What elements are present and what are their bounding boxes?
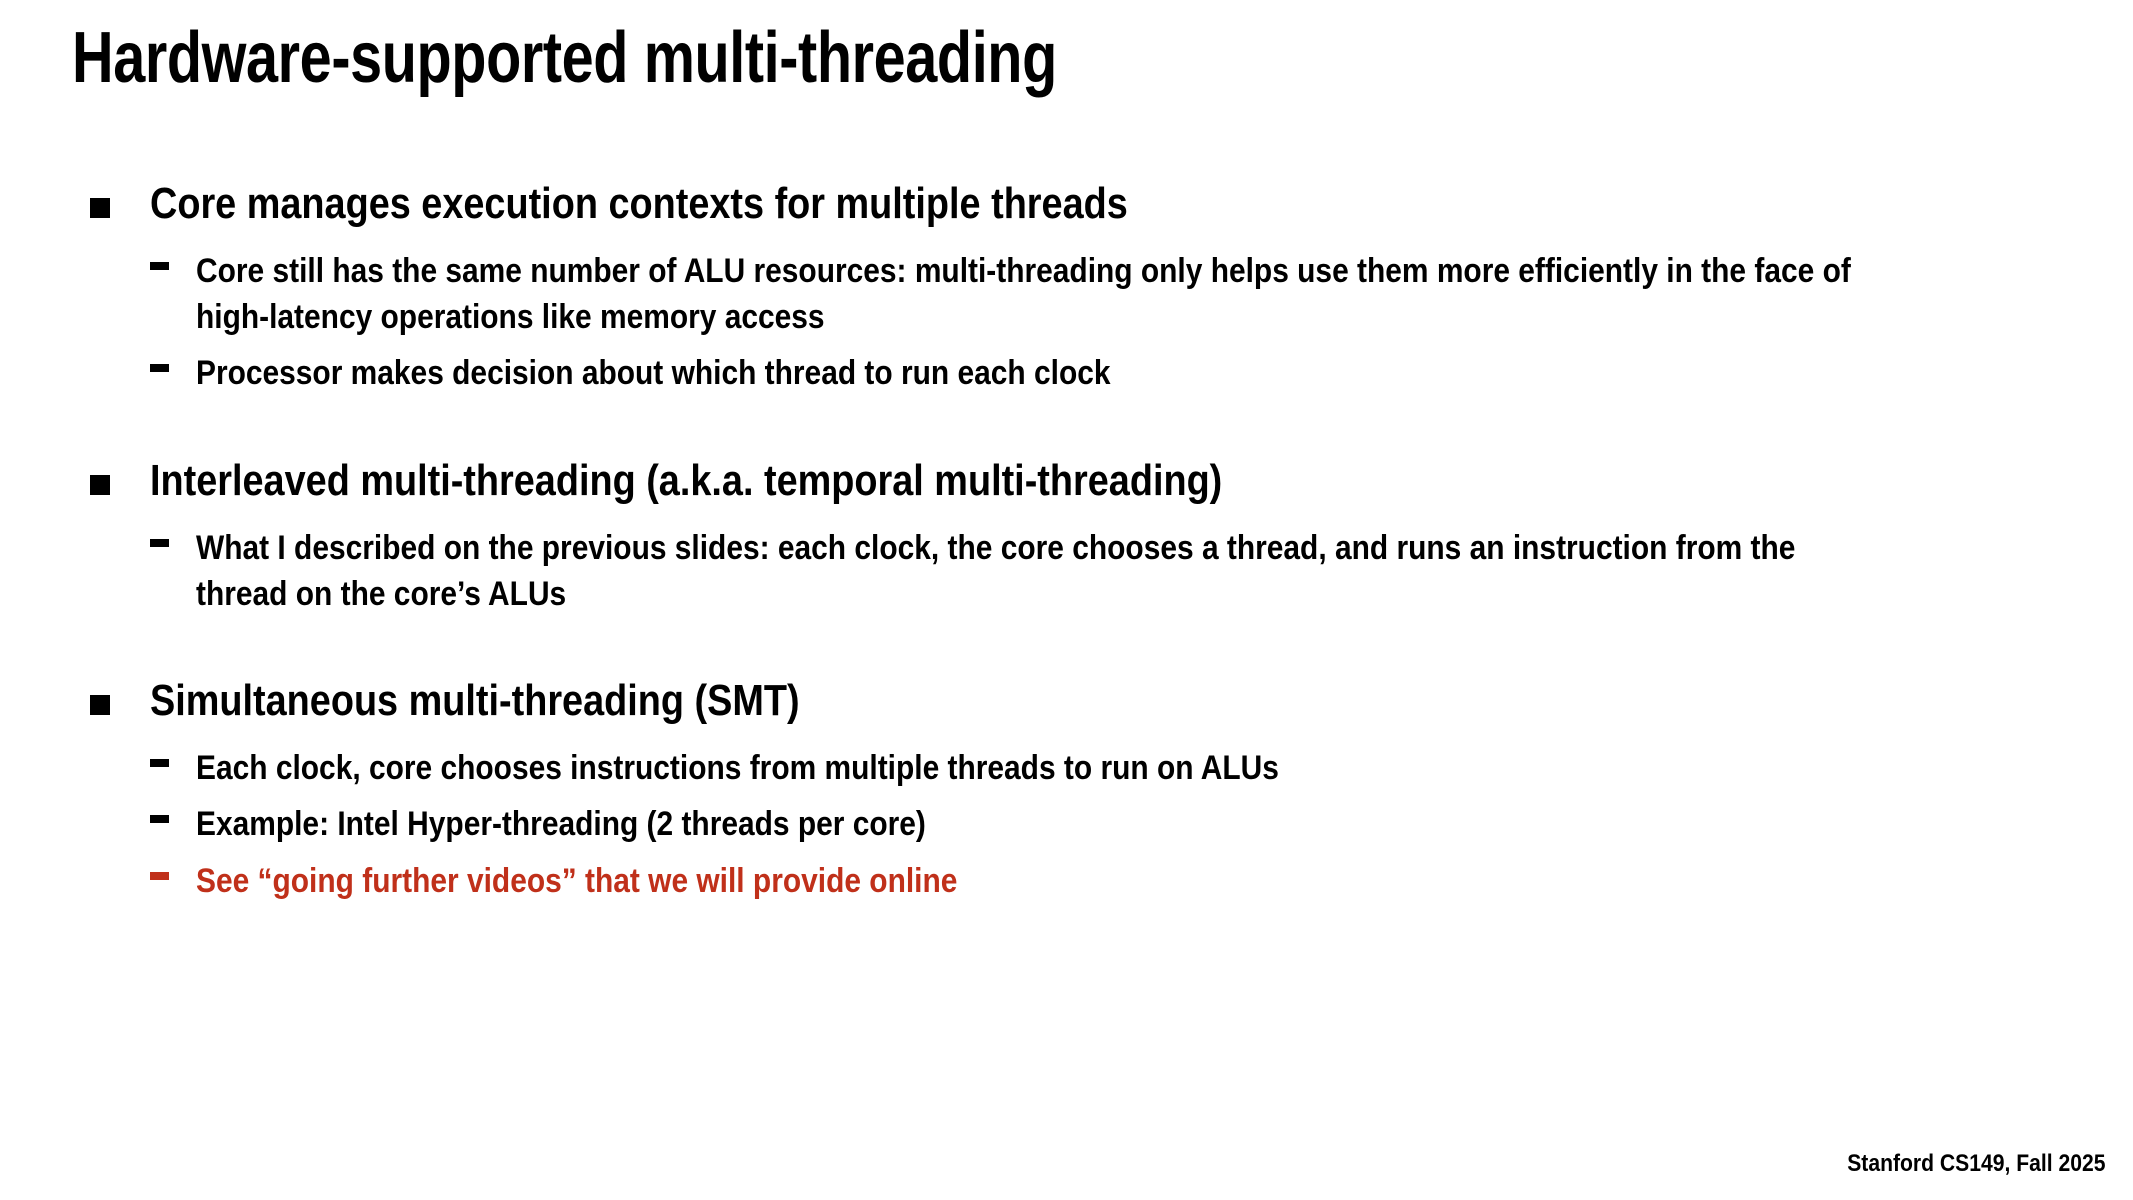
bullet-level2-highlighted: See “going further videos” that we will …: [0, 858, 2133, 904]
slide-footer: Stanford CS149, Fall 2025: [1847, 1150, 2105, 1178]
bullet-level2-label: Example: Intel Hyper-threading (2 thread…: [196, 801, 2088, 847]
bullet-level1: Core manages execution contexts for mult…: [0, 178, 2133, 238]
bullet-level2-label: See “going further videos” that we will …: [196, 858, 2088, 904]
bullet-level1-label: Core manages execution contexts for mult…: [150, 178, 1855, 230]
bullet-level1-label: Interleaved multi-threading (a.k.a. temp…: [150, 455, 1855, 507]
bullet-level2-label: Processor makes decision about which thr…: [196, 350, 2088, 396]
bullet-group: Core manages execution contexts for mult…: [0, 178, 2133, 397]
dash-bullet-icon: [150, 539, 169, 547]
square-bullet-icon: [90, 198, 110, 218]
bullet-level2: Example: Intel Hyper-threading (2 thread…: [0, 801, 2133, 847]
bullet-level2: What I described on the previous slides:…: [0, 525, 2133, 617]
bullet-group: Simultaneous multi-threading (SMT) Each …: [0, 675, 2133, 904]
bullet-group: Interleaved multi-threading (a.k.a. temp…: [0, 455, 2133, 617]
slide-body: Core manages execution contexts for mult…: [0, 178, 2133, 904]
dash-bullet-icon: [150, 364, 169, 372]
dash-bullet-icon: [150, 872, 169, 880]
slide-title: Hardware-supported multi-threading: [72, 22, 1057, 94]
dash-bullet-icon: [150, 815, 169, 823]
bullet-level2: Processor makes decision about which thr…: [0, 350, 2133, 396]
bullet-level2: Each clock, core chooses instructions fr…: [0, 745, 2133, 791]
square-bullet-icon: [90, 475, 110, 495]
dash-bullet-icon: [150, 759, 169, 767]
dash-bullet-icon: [150, 262, 169, 270]
bullet-level2-label: Each clock, core chooses instructions fr…: [196, 745, 2088, 791]
bullet-level2: Core still has the same number of ALU re…: [0, 248, 2133, 340]
bullet-level1: Simultaneous multi-threading (SMT): [0, 675, 2133, 735]
square-bullet-icon: [90, 695, 110, 715]
slide-canvas: Hardware-supported multi-threading Core …: [0, 0, 2133, 1200]
bullet-level1: Interleaved multi-threading (a.k.a. temp…: [0, 455, 2133, 515]
bullet-level2-label: What I described on the previous slides:…: [196, 525, 1850, 617]
bullet-level1-label: Simultaneous multi-threading (SMT): [150, 675, 1855, 727]
bullet-level2-label: Core still has the same number of ALU re…: [196, 248, 1868, 340]
